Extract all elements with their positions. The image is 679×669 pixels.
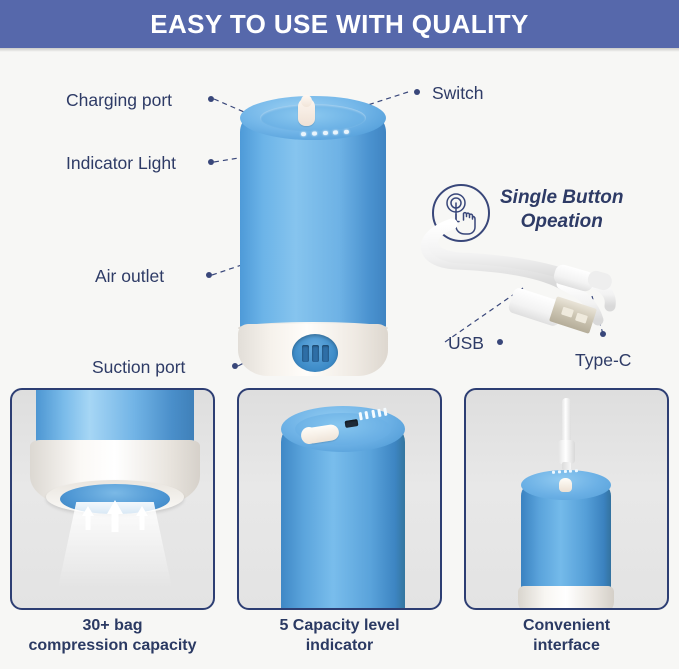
- usb-cable-graphic: [412, 202, 674, 382]
- callout-label-switch: Switch: [432, 85, 484, 103]
- feature-panel-capacity-indicator: [237, 388, 442, 610]
- callout-label-suction-port: Suction port: [92, 359, 185, 377]
- product-device-illustration: [238, 90, 388, 380]
- usb-cable-illustration: [412, 202, 674, 382]
- led-dot: [558, 470, 561, 473]
- led-bar: [371, 410, 375, 418]
- feature-panels: 30+ bag compression capacity 5 Capacity …: [0, 388, 679, 669]
- led-bar: [383, 408, 387, 416]
- led-bar: [377, 409, 381, 417]
- device-body: [240, 112, 386, 350]
- callout-label-air-outlet: Air outlet: [95, 268, 164, 286]
- led-bar: [365, 411, 369, 419]
- panel3-device-base: [518, 586, 614, 610]
- caption-line2: interface: [464, 636, 669, 656]
- power-button-icon: [298, 98, 315, 126]
- feature-caption-interface: Convenient interface: [464, 616, 669, 657]
- panel3-cable-plug: [558, 440, 575, 464]
- caption-line1: 5 Capacity level: [237, 616, 442, 636]
- callout-dot-switch: [414, 89, 420, 95]
- callout-dot-indicator-light: [208, 159, 214, 165]
- led-dot: [569, 469, 572, 472]
- header-banner: EASY TO USE WITH QUALITY: [0, 0, 679, 48]
- callout-dot-charging-port: [208, 96, 214, 102]
- caption-line2: indicator: [237, 636, 442, 656]
- feature-panel-compression: [10, 388, 215, 610]
- callout-label-indicator-light: Indicator Light: [66, 155, 176, 173]
- suction-grille-slot: [322, 345, 329, 362]
- led-dot: [312, 131, 317, 135]
- panel3-charging-cable: [562, 398, 571, 446]
- suction-grille-slot: [312, 345, 319, 362]
- suction-port-icon: [292, 334, 338, 372]
- led-dot: [333, 130, 338, 134]
- led-dot: [563, 470, 566, 473]
- led-dot: [301, 132, 306, 136]
- caption-line1: Convenient: [464, 616, 669, 636]
- hero-section: Charging port Indicator Light Air outlet…: [0, 52, 679, 382]
- caption-line1: 30+ bag: [10, 616, 215, 636]
- led-dot: [552, 471, 555, 474]
- panel1-airflow-arrows: [12, 390, 215, 610]
- callout-dot-air-outlet: [206, 272, 212, 278]
- feature-panel-interface: [464, 388, 669, 610]
- led-dot: [575, 469, 578, 472]
- caption-line2: compression capacity: [10, 636, 215, 656]
- banner-title: EASY TO USE WITH QUALITY: [150, 9, 528, 40]
- led-bar: [359, 412, 363, 420]
- led-dot: [344, 130, 349, 134]
- suction-grille-slot: [302, 345, 309, 362]
- panel3-power-button-icon: [559, 478, 572, 492]
- led-dot: [322, 131, 327, 135]
- feature-caption-capacity-indicator: 5 Capacity level indicator: [237, 616, 442, 657]
- feature-caption-compression: 30+ bag compression capacity: [10, 616, 215, 657]
- callout-label-charging-port: Charging port: [66, 92, 172, 110]
